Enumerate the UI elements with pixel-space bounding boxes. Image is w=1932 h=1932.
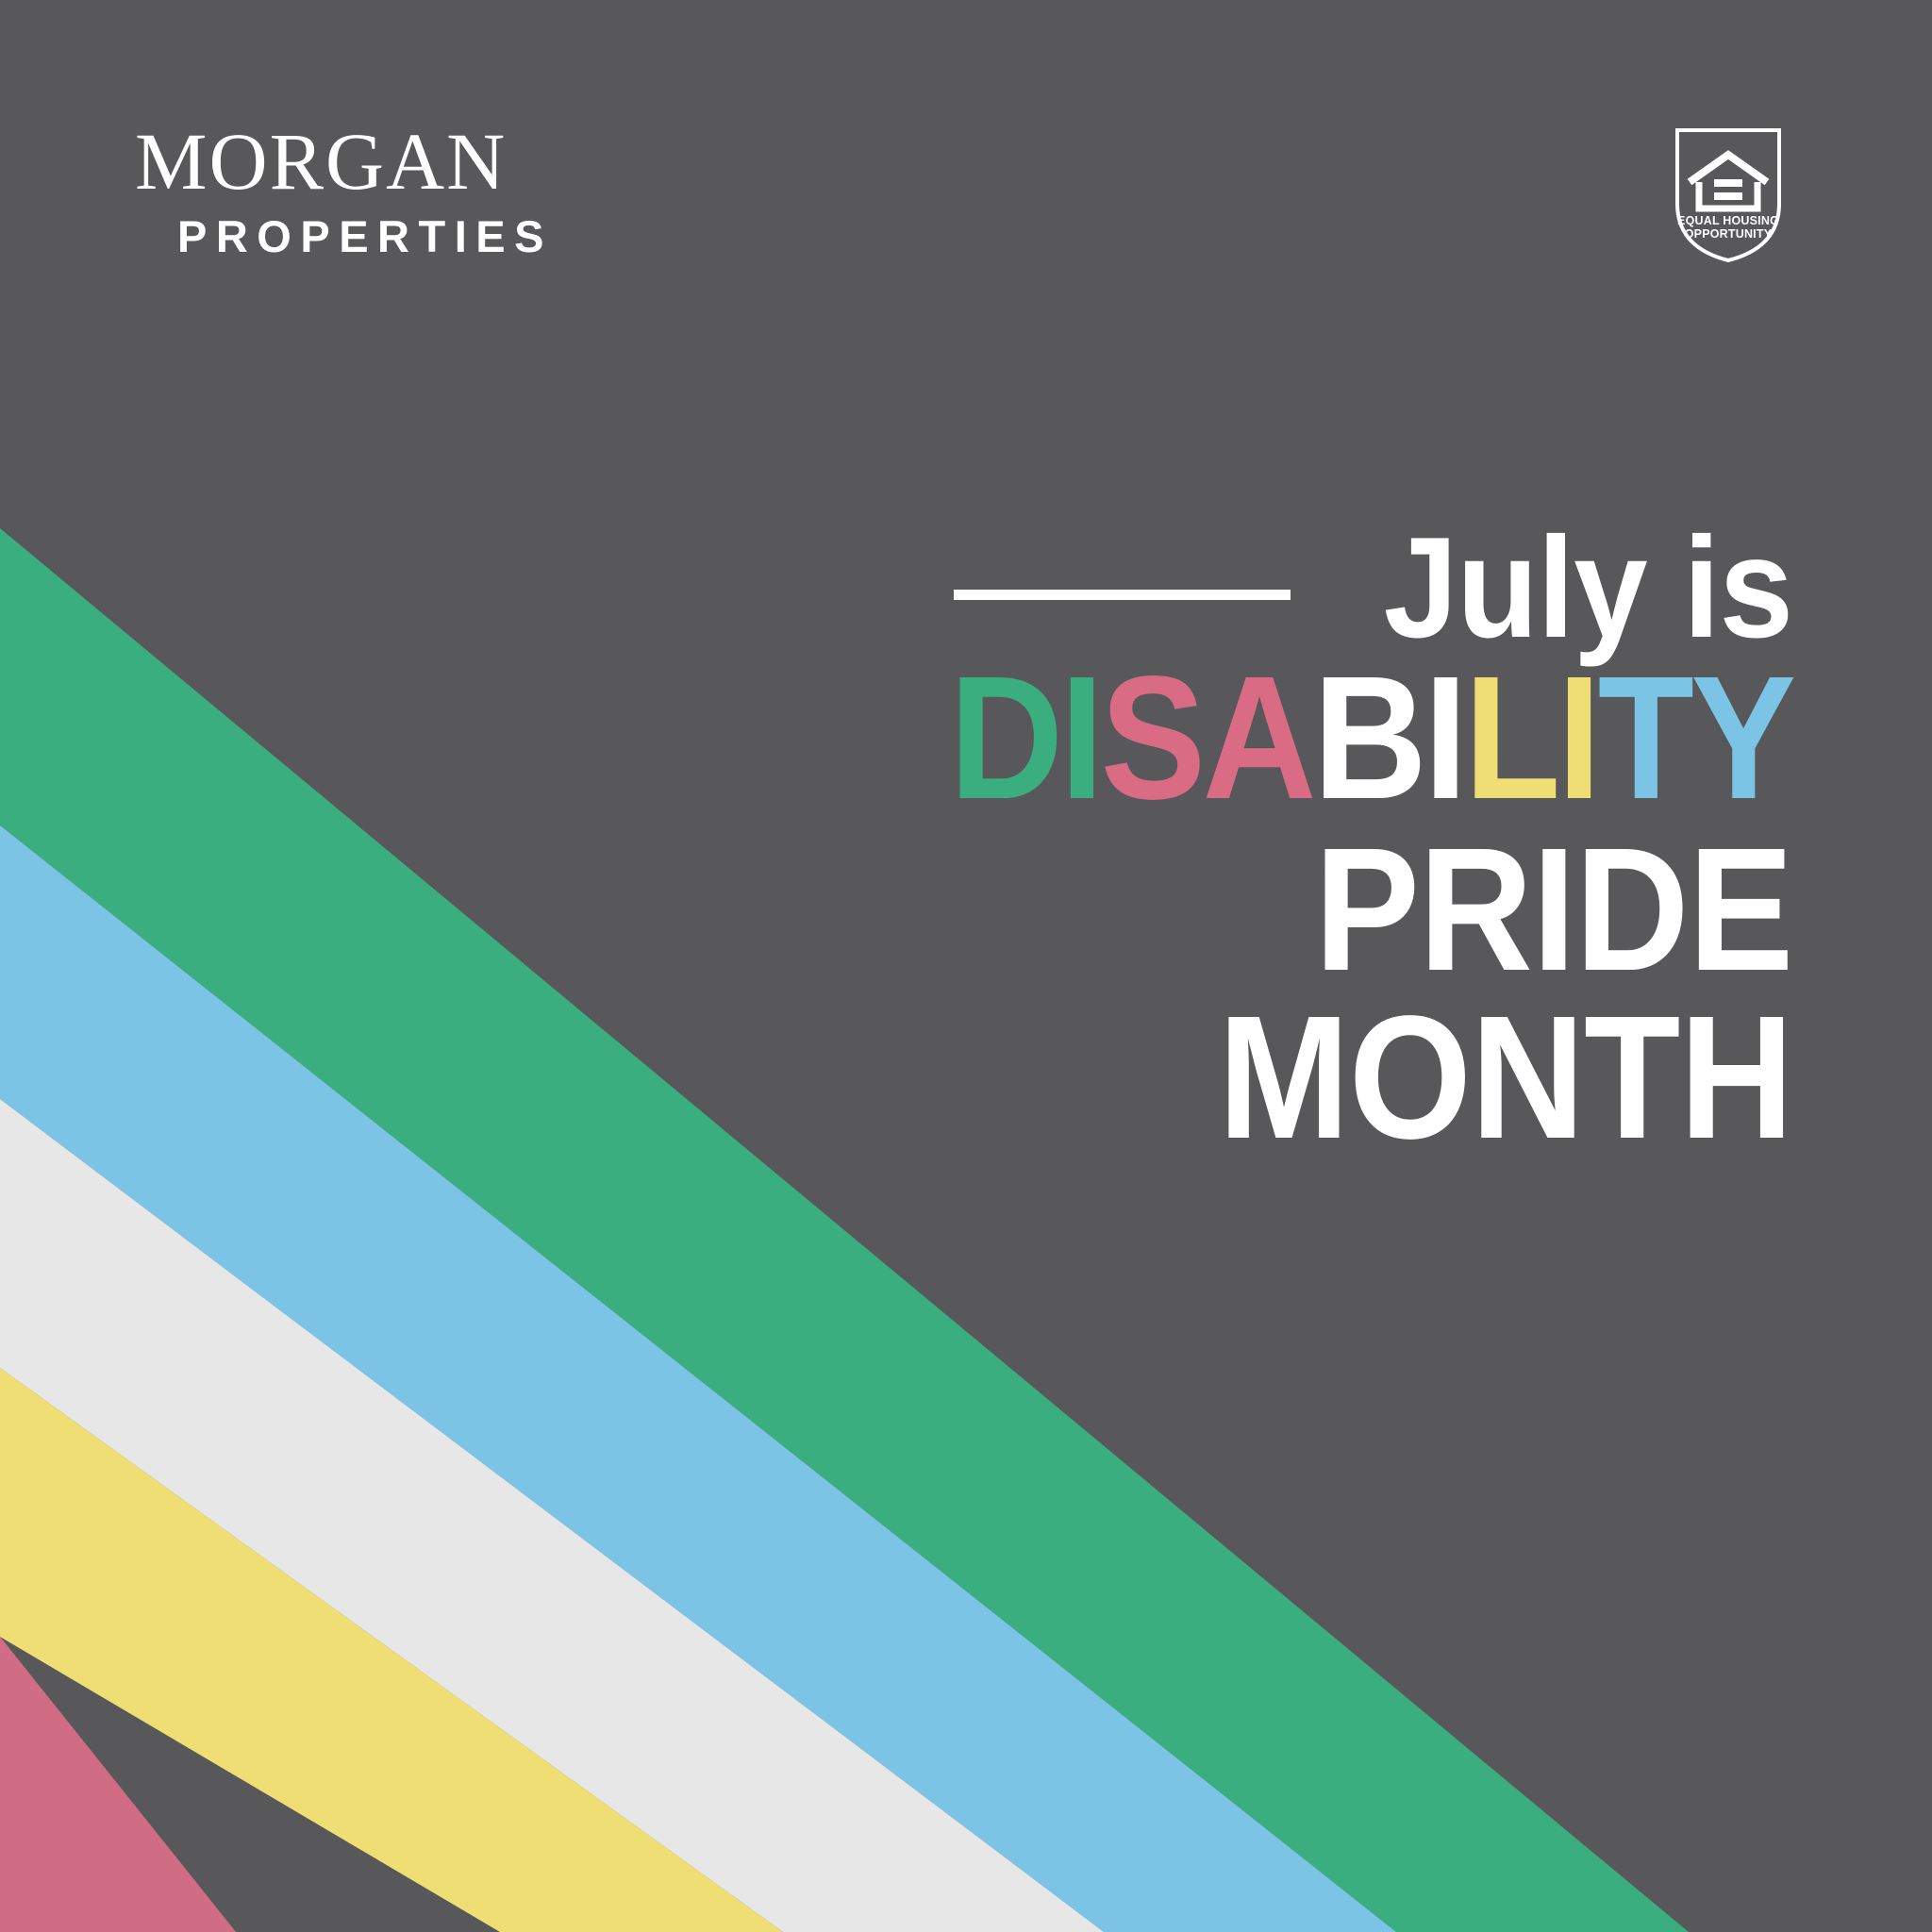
logo-word-properties: PROPERTIES: [177, 214, 553, 258]
equals-sign-icon: [1714, 179, 1742, 200]
logo-word-morgan: MORGAN: [135, 121, 553, 202]
badge-text-line2: OPPORTUNITY: [1685, 227, 1773, 241]
headline-line-month: MONTH: [949, 991, 1792, 1166]
disability-letter-8: T: [1597, 641, 1690, 836]
disability-letter-4: B: [1312, 641, 1423, 836]
headline-line-july-is: July is: [856, 517, 1792, 658]
disability-letter-3: A: [1202, 641, 1312, 836]
headline-line-disability: DISABILITY: [949, 651, 1792, 826]
disability-letter-7: I: [1557, 641, 1597, 836]
headline-line-pride: PRIDE: [949, 823, 1792, 998]
disability-letter-1: I: [1059, 641, 1100, 836]
headline-july-is-text: July is: [1383, 516, 1792, 659]
disability-letter-9: Y: [1690, 641, 1792, 836]
disability-letter-2: S: [1100, 641, 1202, 836]
poster-canvas: MORGAN PROPERTIES EQUAL HOUSING OPPORTUN…: [0, 0, 1932, 1932]
headline-block: July is DISABILITY PRIDE MONTH: [856, 517, 1792, 1166]
headline-rule: [954, 590, 1291, 600]
badge-text-line1: EQUAL HOUSING: [1677, 214, 1779, 227]
disability-letter-6: L: [1464, 641, 1557, 836]
disability-letters: DISABILITY: [949, 641, 1792, 836]
badge-text: EQUAL HOUSING OPPORTUNITY: [1677, 214, 1779, 241]
equal-housing-opportunity-badge: EQUAL HOUSING OPPORTUNITY: [1672, 125, 1785, 264]
disability-letter-5: I: [1424, 641, 1464, 836]
disability-letter-0: D: [949, 641, 1059, 836]
morgan-properties-logo: MORGAN PROPERTIES: [135, 121, 553, 258]
